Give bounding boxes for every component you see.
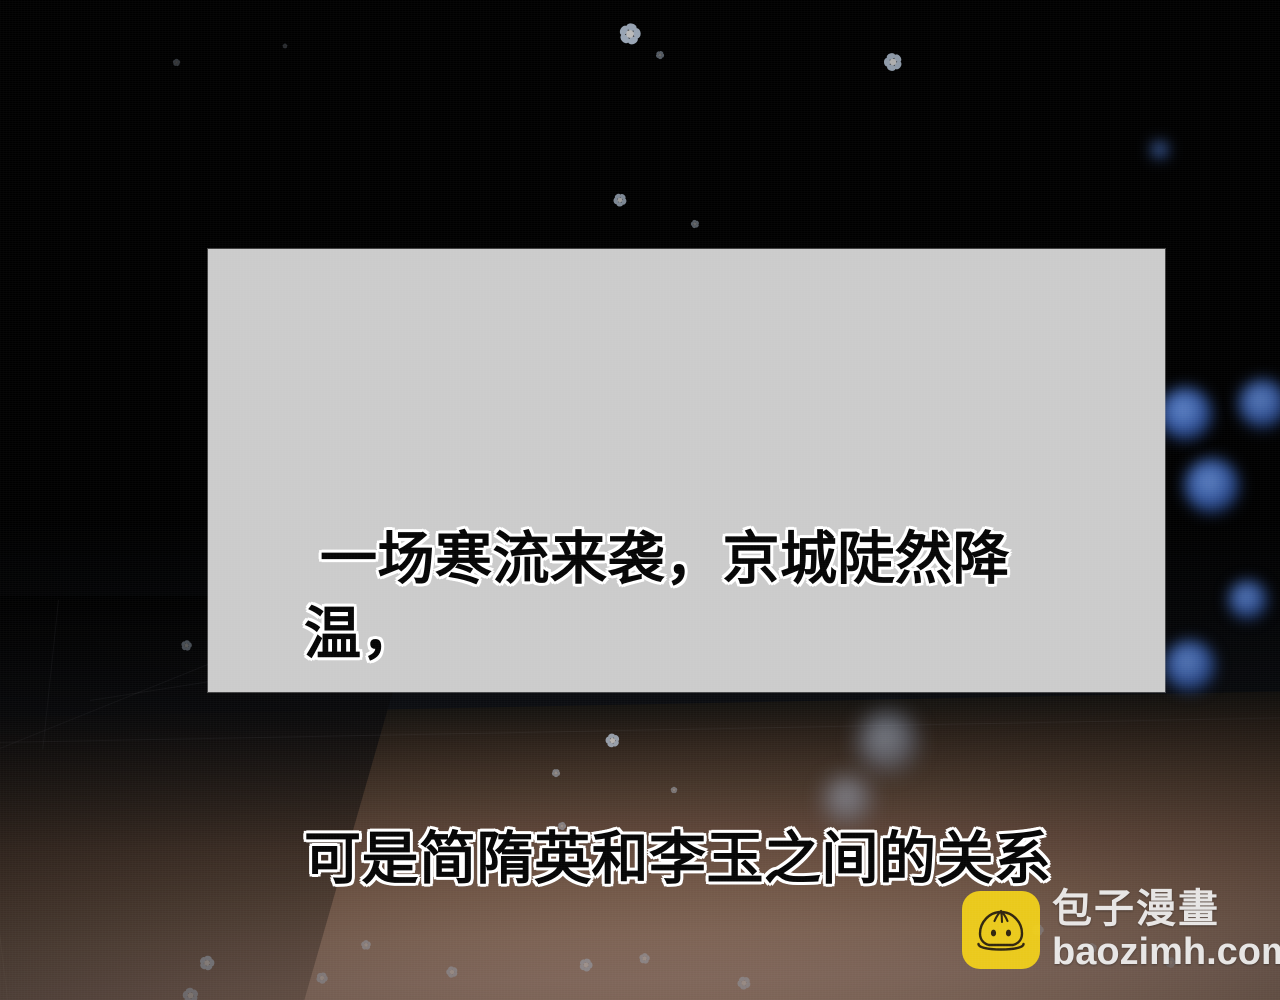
bokeh-circle xyxy=(1228,580,1268,620)
watermark: 包子漫畫 baozimh.com xyxy=(962,889,1280,971)
caption-line-1: 一场寒流来袭，京城陡然降温， xyxy=(304,522,1104,672)
bokeh-circle xyxy=(1184,458,1240,514)
snowflake-icon xyxy=(879,48,907,76)
watermark-brand-cn: 包子漫畫 xyxy=(1052,889,1280,929)
snowflake-icon xyxy=(689,218,701,230)
bokeh-circle xyxy=(1151,141,1169,159)
snowflake-icon xyxy=(615,19,646,50)
snowflake-icon xyxy=(609,189,632,212)
caption-line-2: 可是简隋英和李玉之间的关系 xyxy=(304,822,1104,897)
snowflake-icon xyxy=(282,43,288,49)
bokeh-circle xyxy=(1159,387,1213,441)
watermark-text: 包子漫畫 baozimh.com xyxy=(1052,889,1280,971)
comic-panel-scene: 一场寒流来袭，京城陡然降温， 可是简隋英和李玉之间的关系 却逐渐升温。 包子漫畫… xyxy=(0,0,1280,1000)
snowflake-icon xyxy=(178,637,193,652)
snowflake-icon xyxy=(171,57,181,67)
bokeh-circle xyxy=(1164,640,1216,692)
baozi-bun-icon xyxy=(962,891,1040,969)
watermark-url: baozimh.com xyxy=(1052,933,1280,971)
snowflake-icon xyxy=(653,48,667,62)
caption-panel: 一场寒流来袭，京城陡然降温， 可是简隋英和李玉之间的关系 却逐渐升温。 xyxy=(208,249,1165,692)
bokeh-circle xyxy=(1238,379,1280,429)
snowflake-icon xyxy=(179,984,201,1000)
snowflake-icon xyxy=(196,952,218,974)
